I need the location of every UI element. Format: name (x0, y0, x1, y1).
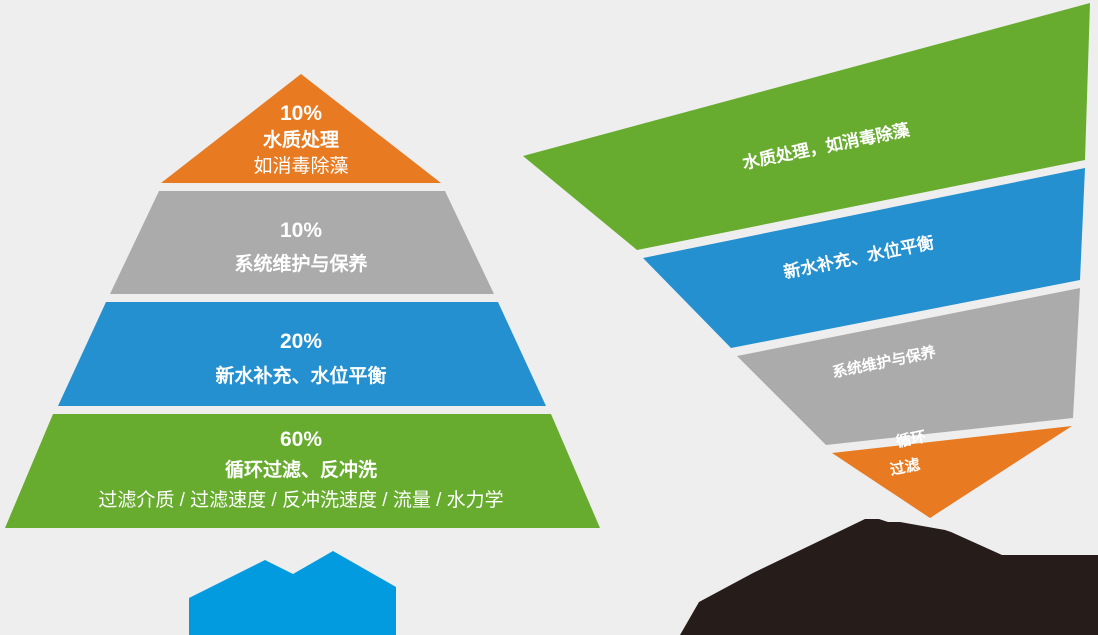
left-pyramid-level-base-title: 循环过滤、反冲洗 (225, 458, 377, 481)
diagram-canvas: 10% 水质处理 如消毒除藻 10% 系统维护与保养 20% 新水补充、水位平衡… (0, 0, 1098, 635)
pyramid-diagram-svg: 10% 水质处理 如消毒除藻 10% 系统维护与保养 20% 新水补充、水位平衡… (0, 0, 1098, 635)
left-pyramid-level-top-percent: 10% (280, 102, 322, 125)
left-pyramid-level-third-shape[interactable] (58, 302, 546, 406)
left-pyramid-level-second-shape[interactable] (110, 191, 494, 294)
left-pyramid-level-base-subtitle: 过滤介质 / 过滤速度 / 反冲洗速度 / 流量 / 水力学 (98, 489, 503, 511)
left-pyramid-level-base-percent: 60% (280, 428, 322, 451)
right-funnel: 水质处理，如消毒除藻 新水补充、水位平衡 系统维护与保养 循环 过滤 (523, 3, 1090, 518)
dark-hill-shape (680, 519, 1098, 635)
left-pyramid-level-second-title: 系统维护与保养 (234, 252, 367, 275)
left-pyramid-level-second-percent: 10% (280, 219, 322, 242)
left-pyramid-level-top-subtitle: 如消毒除藻 (253, 155, 348, 177)
blue-mountain-shape (189, 551, 396, 635)
left-pyramid-level-top-title: 水质处理 (263, 128, 339, 151)
left-pyramid-level-third-title: 新水补充、水位平衡 (215, 364, 386, 387)
left-pyramid-level-third-percent: 20% (280, 330, 322, 353)
left-pyramid: 10% 水质处理 如消毒除藻 10% 系统维护与保养 20% 新水补充、水位平衡… (5, 74, 600, 528)
